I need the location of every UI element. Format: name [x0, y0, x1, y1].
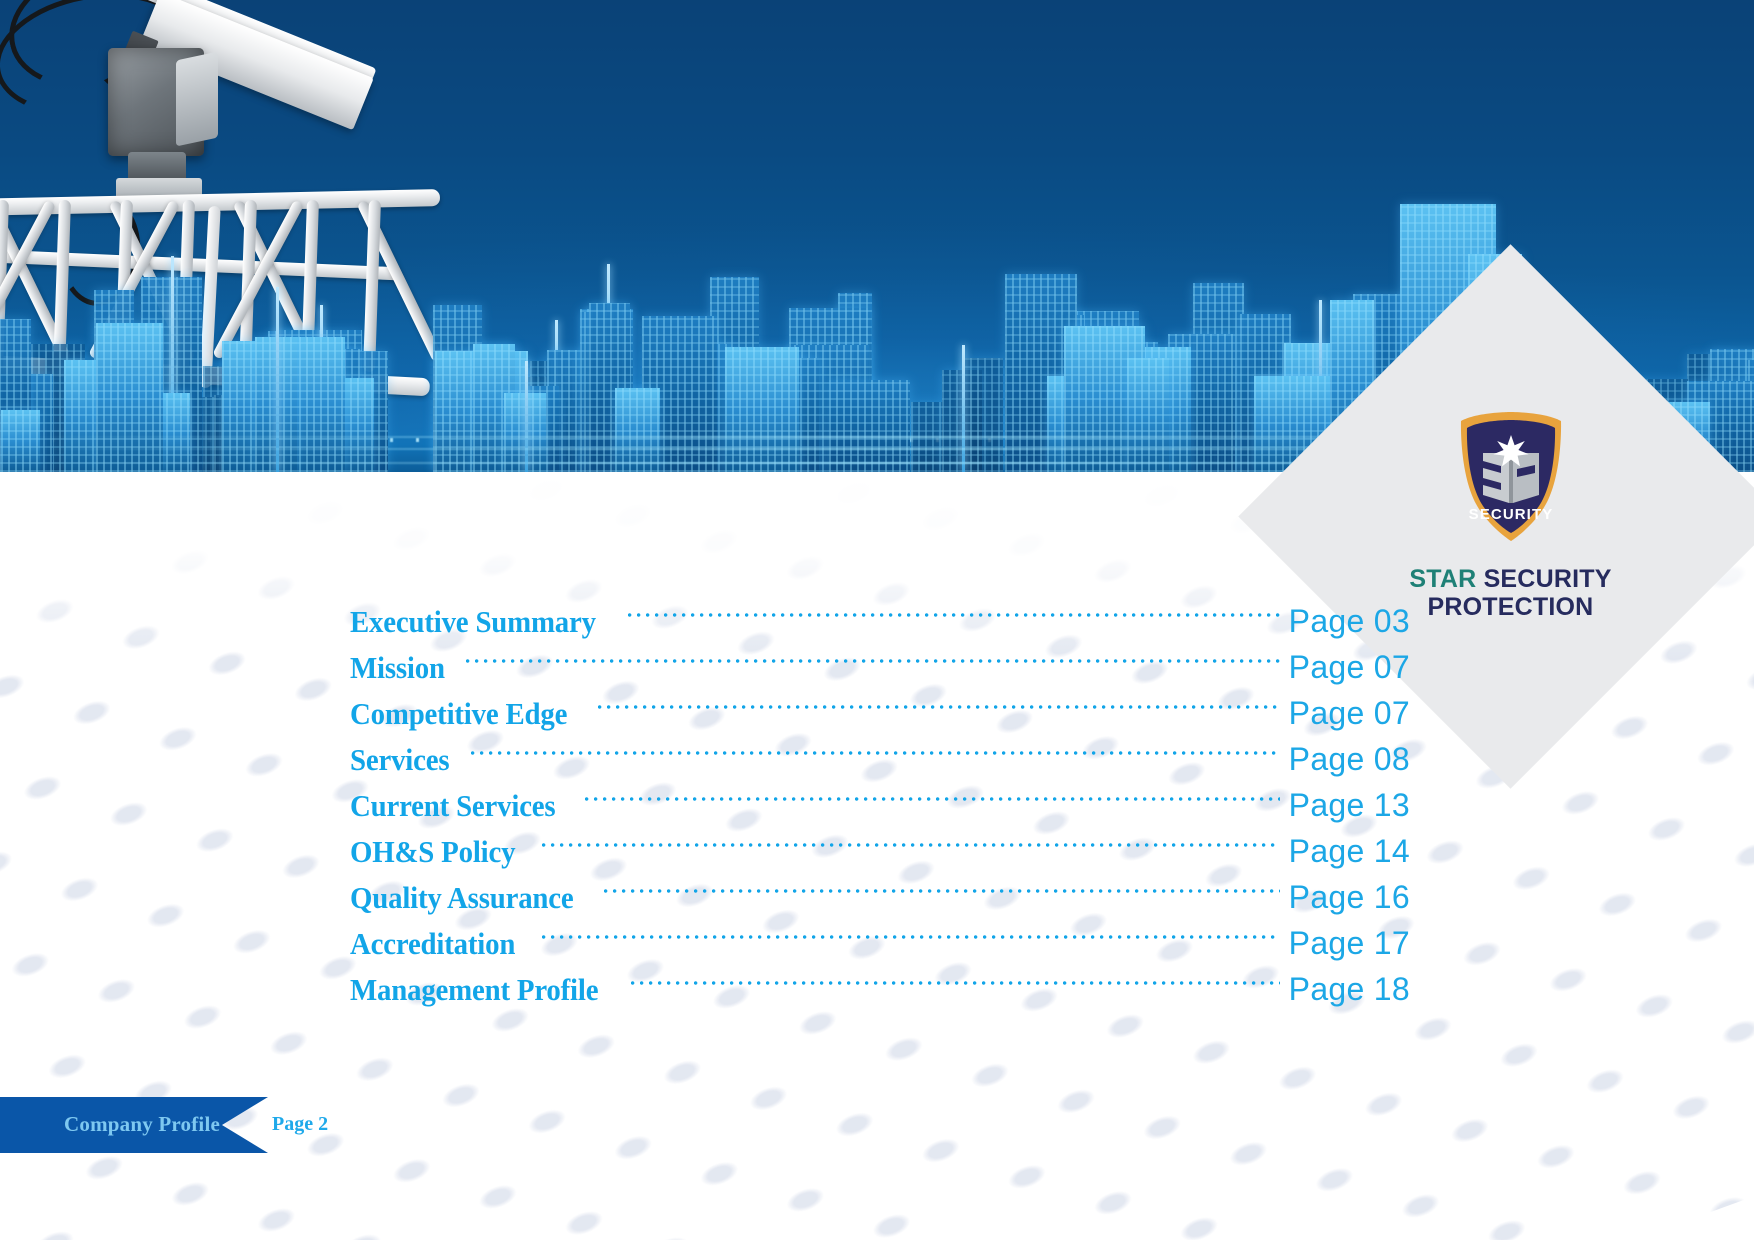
toc-entry-page: Page 07: [1289, 649, 1410, 686]
toc-leader-dots: [598, 695, 1280, 719]
toc-entry-title: Executive Summary: [350, 604, 596, 640]
toc-leader-dots: [542, 833, 1280, 857]
table-of-contents: Executive SummaryPage 03MissionPage 07Co…: [350, 603, 1410, 1017]
toc-row[interactable]: Quality AssurancePage 16: [350, 879, 1410, 925]
toc-row[interactable]: Management ProfilePage 18: [350, 971, 1410, 1017]
toc-row[interactable]: AccreditationPage 17: [350, 925, 1410, 971]
toc-row[interactable]: MissionPage 07: [350, 649, 1410, 695]
toc-entry-title: OH&S Policy: [350, 834, 515, 870]
toc-entry-page: Page 08: [1289, 741, 1410, 778]
shield-badge-icon: SECURITY: [1449, 409, 1573, 545]
toc-row[interactable]: ServicesPage 08: [350, 741, 1410, 787]
toc-entry-title: Management Profile: [350, 972, 598, 1008]
toc-leader-dots: [542, 925, 1280, 949]
toc-entry-page: Page 07: [1289, 695, 1410, 732]
footer-document-title: Company Profile: [64, 1112, 220, 1137]
footer-page-number: Page 2: [272, 1113, 328, 1136]
toc-entry-page: Page 14: [1289, 833, 1410, 870]
toc-entry-title: Current Services: [350, 788, 555, 824]
toc-leader-dots: [628, 603, 1279, 627]
toc-entry-title: Quality Assurance: [350, 880, 574, 916]
toc-leader-dots: [631, 971, 1280, 995]
toc-row[interactable]: Competitive EdgePage 07: [350, 695, 1410, 741]
wordmark-star: STAR: [1409, 565, 1476, 593]
toc-row[interactable]: Executive SummaryPage 03: [350, 603, 1410, 649]
svg-text:SECURITY: SECURITY: [1468, 506, 1553, 523]
toc-entry-title: Mission: [350, 650, 445, 686]
toc-leader-dots: [471, 741, 1280, 765]
toc-entry-page: Page 03: [1289, 603, 1410, 640]
wordmark-protection: PROTECTION: [1409, 593, 1611, 621]
toc-leader-dots: [604, 879, 1279, 903]
toc-entry-title: Services: [350, 742, 449, 778]
toc-row[interactable]: OH&S PolicyPage 14: [350, 833, 1410, 879]
toc-leader-dots: [466, 649, 1280, 673]
toc-entry-title: Accreditation: [350, 926, 515, 962]
toc-entry-page: Page 17: [1289, 925, 1410, 962]
toc-entry-page: Page 18: [1289, 971, 1410, 1008]
toc-leader-dots: [585, 787, 1280, 811]
toc-entry-page: Page 13: [1289, 787, 1410, 824]
toc-entry-title: Competitive Edge: [350, 696, 567, 732]
brand-wordmark: STAR SECURITY PROTECTION: [1409, 565, 1611, 621]
page-footer: Company Profile Page 2: [0, 1097, 420, 1153]
document-page: SECURITY STAR SECURITY PROTECTION Execut…: [0, 0, 1754, 1240]
wordmark-security: SECURITY: [1484, 565, 1612, 593]
toc-entry-page: Page 16: [1289, 879, 1410, 916]
toc-row[interactable]: Current ServicesPage 13: [350, 787, 1410, 833]
